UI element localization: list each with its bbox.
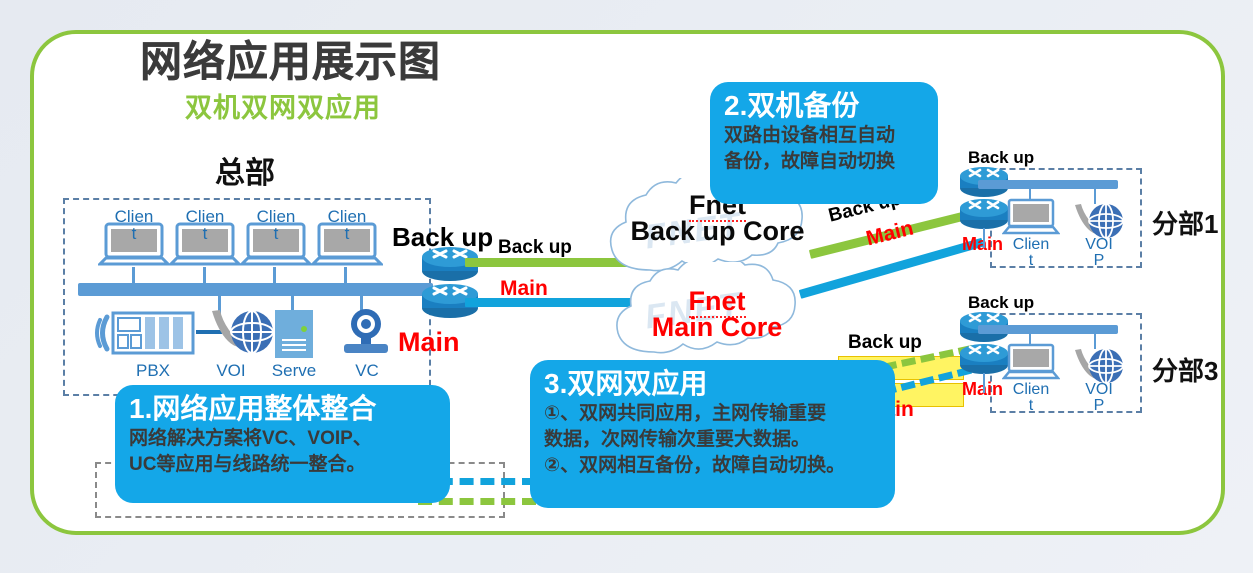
callout-3[interactable]: 3.双网双应用 ①、双网共同应用，主网传输重要 数据，次网传输次重要大数据。 ②… [530,360,895,508]
callout-1-heading: 1.网络应用整体整合 [129,392,436,426]
hq-device-stub [291,295,294,310]
laptop-icon [1002,343,1060,383]
callout-1-line-2: UC等应用与线路统一整合。 [129,452,436,478]
hq-core-main-link-label: Main [500,277,548,301]
hq-client-4-label: Clien t [317,208,377,242]
callout-1[interactable]: 1.网络应用整体整合 网络解决方案将VC、VOIP、 UC等应用与线路统一整合。 [115,385,450,503]
branch3-client-label: Clien t [1001,382,1061,414]
page-subtitle: 双机双网双应用 [185,86,381,125]
branch1-router-stub [983,228,985,248]
hq-client-1-label: Clien t [104,208,164,242]
pbx-icon [93,307,201,359]
core-branch3-backup-label: Back up [848,332,922,354]
label-line2: t [1029,397,1033,414]
cloud-name: Back up Core [630,216,804,246]
label-line2: P [1094,252,1105,269]
label-line2: t [1029,252,1033,269]
label-line1: VOI [1085,381,1113,398]
page-title: 网络应用展示图 [140,28,441,89]
label-line2: t [203,224,208,243]
callout-3-heading: 3.双网双应用 [544,367,881,401]
hq-device-vc-label: VC [332,362,402,379]
hq-device-server[interactable] [272,309,316,364]
branch1-label: 分部1 [1152,204,1218,241]
cloud-name: Main Core [652,312,783,342]
hq-core-backup-link-label: Back up [498,237,572,259]
branch1-bus [978,180,1118,189]
label-line2: t [132,224,137,243]
callout-3-line-1: ①、双网共同应用，主网传输重要 [544,401,881,427]
branch3-voip-label: VOI P [1071,382,1127,414]
callout-2[interactable]: 2.双机备份 双路由设备相互自动 备份，故障自动切换 [710,82,938,204]
branch3-bus [978,325,1118,334]
label-line2: t [274,224,279,243]
cloud-main-core-label: Fnet Main Core [608,288,826,340]
branch3-router-stub [983,373,985,393]
hq-router-main-label: Main [398,327,460,358]
hq-device-vc[interactable] [339,306,393,363]
label-line2: P [1094,397,1105,414]
label-line1: Clien [1013,381,1049,398]
server-icon [272,309,316,359]
callout-1-line-1: 网络解决方案将VC、VOIP、 [129,426,436,452]
callout-2-line-1: 双路由设备相互自动 [724,123,924,149]
branch1-client-label: Clien t [1001,237,1061,269]
callout-2-line-2: 备份，故障自动切换 [724,149,924,175]
label-line1: Clien [1013,236,1049,253]
label-line1: VOI [1085,236,1113,253]
hq-client-2-label: Clien t [175,208,235,242]
hq-device-voip[interactable] [208,305,278,366]
voip-globe-icon [208,305,278,361]
hq-device-pbx[interactable] [93,307,201,364]
callout-3-line-3: ②、双网相互备份，故障自动切换。 [544,453,881,479]
headquarters-label: 总部 [215,148,275,192]
video-camera-icon [339,306,393,358]
branch3-label: 分部3 [1152,351,1218,388]
hq-device-server-label: Serve [259,362,329,379]
callout-2-heading: 2.双机备份 [724,89,924,123]
label-line2: t [345,224,350,243]
laptop-icon [1002,198,1060,238]
hq-device-pbx-label: PBX [118,362,188,379]
branch1-voip-label: VOI P [1071,237,1127,269]
hq-device-voip-label: VOI [196,362,266,379]
diagram-canvas: 网络应用展示图 双机双网双应用 总部 [0,0,1253,573]
hq-client-3-label: Clien t [246,208,306,242]
callout-3-line-2: 数据，次网传输次重要大数据。 [544,427,881,453]
